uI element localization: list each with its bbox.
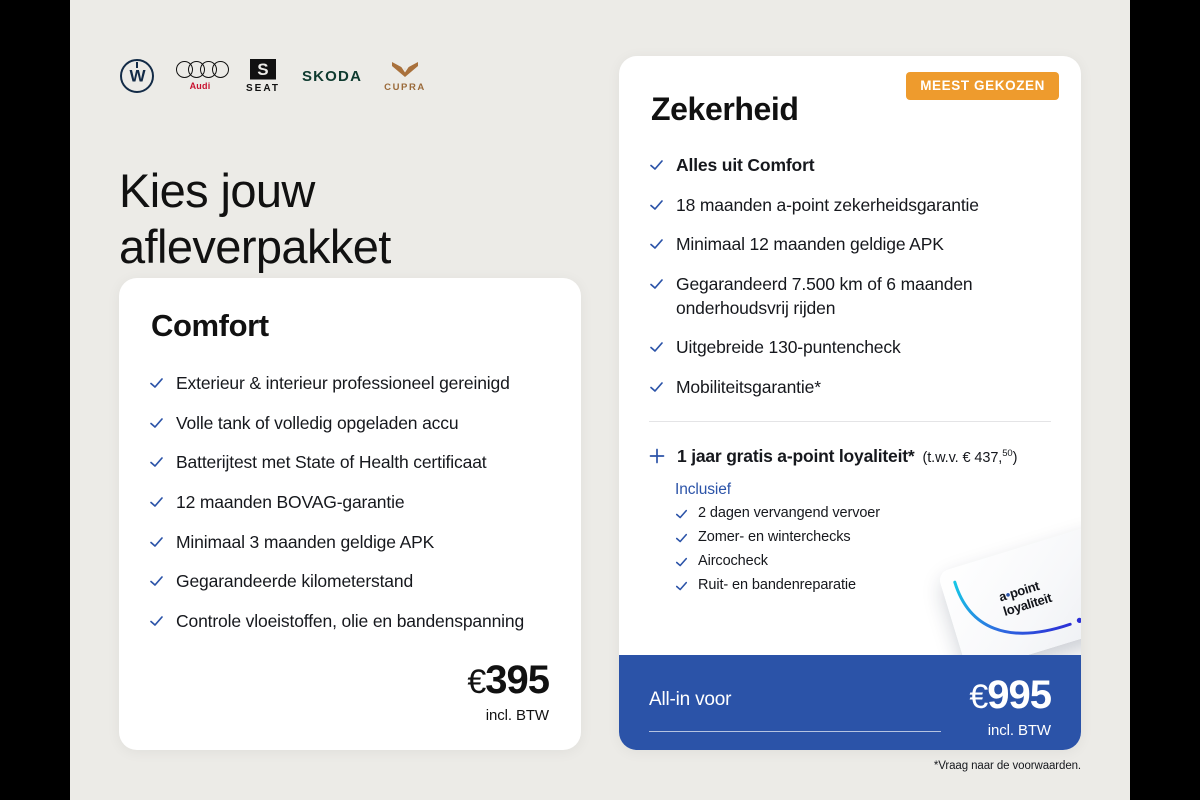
list-item: Minimaal 3 maanden geldige APK [149, 531, 551, 555]
zekerheid-price-bar: All-in voor €995 incl. BTW [619, 655, 1081, 750]
list-item: 2 dagen vervangend vervoer [675, 505, 1051, 521]
check-icon [149, 535, 164, 550]
list-item-label: Ruit- en bandenreparatie [698, 577, 856, 593]
list-item-label: 18 maanden a-point zekerheidsgarantie [676, 194, 979, 218]
list-item-label: Aircocheck [698, 553, 768, 569]
zekerheid-feature-list: Alles uit Comfort 18 maanden a-point zek… [619, 128, 1081, 399]
package-card-zekerheid[interactable]: MEEST GEKOZEN Zekerheid Alles uit Comfor… [619, 56, 1081, 750]
list-item-label: Volle tank of volledig opgeladen accu [176, 412, 458, 436]
list-item-label: Uitgebreide 130-puntencheck [676, 336, 901, 360]
page-title: Kies jouw afleverpakket [119, 163, 549, 274]
status-badge: MEEST GEKOZEN [906, 72, 1059, 100]
plus-icon [649, 448, 665, 464]
check-icon [649, 237, 664, 252]
list-item-label: Minimaal 12 maanden geldige APK [676, 233, 944, 257]
vw-logo-icon [120, 59, 154, 93]
check-icon [675, 556, 688, 569]
currency-symbol: € [969, 678, 987, 716]
package-card-comfort[interactable]: Comfort Exterieur & interieur profession… [119, 278, 581, 750]
brand-logo-cupra: CUPRA [384, 60, 426, 93]
list-item: Gegarandeerde kilometerstand [149, 570, 551, 594]
bonus-value: (t.w.v. € 437,50) [923, 450, 1018, 466]
audi-rings-icon [176, 61, 224, 78]
list-item-label: Controle vloeistoffen, olie en bandenspa… [176, 610, 524, 634]
footnote: *Vraag naar de voorwaarden. [934, 760, 1081, 772]
list-item: Exterieur & interieur professioneel gere… [149, 372, 551, 396]
list-item-label: Gegarandeerde kilometerstand [176, 570, 413, 594]
comfort-title: Comfort [119, 278, 581, 344]
list-item-label: Mobiliteitsgarantie* [676, 376, 821, 400]
list-item: Batterijtest met State of Health certifi… [149, 451, 551, 475]
comfort-price-note: incl. BTW [467, 707, 549, 724]
list-item-label: 2 dagen vervangend vervoer [698, 505, 880, 521]
price-rule [649, 731, 941, 732]
price-amount: 395 [485, 658, 549, 702]
included-label: Inclusief [619, 467, 1081, 499]
list-item: Uitgebreide 130-puntencheck [649, 336, 1057, 360]
audi-wordmark: Audi [190, 81, 211, 91]
seat-logo-icon: S [250, 59, 276, 80]
list-item-label: 12 maanden BOVAG-garantie [176, 491, 404, 515]
check-icon [649, 340, 664, 355]
check-icon [675, 580, 688, 593]
list-item-label: Gegarandeerd 7.500 km of 6 maanden onder… [676, 273, 1057, 320]
check-icon [675, 532, 688, 545]
allin-label: All-in voor [649, 689, 731, 711]
cupra-logo-icon [390, 60, 420, 79]
page-canvas: Audi S SEAT SKODA CUPRA Kies jouw a [70, 0, 1130, 800]
list-item: Mobiliteitsgarantie* [649, 376, 1057, 400]
check-icon [149, 416, 164, 431]
seat-wordmark: SEAT [246, 83, 280, 94]
list-item: Controle vloeistoffen, olie en bandenspa… [149, 610, 551, 634]
list-item-label: Batterijtest met State of Health certifi… [176, 451, 487, 475]
brand-logo-skoda: SKODA [302, 68, 362, 85]
brand-logo-strip: Audi S SEAT SKODA CUPRA [120, 55, 426, 97]
screenshot-stage: Audi S SEAT SKODA CUPRA Kies jouw a [0, 0, 1200, 800]
skoda-wordmark: SKODA [302, 68, 362, 85]
brand-logo-volkswagen [120, 59, 154, 93]
check-icon [649, 198, 664, 213]
bonus-row: 1 jaar gratis a-point loyaliteit*(t.w.v.… [619, 422, 1081, 467]
list-item: Volle tank of volledig opgeladen accu [149, 412, 551, 436]
zekerheid-price-block: €995 incl. BTW [969, 675, 1051, 739]
comfort-price: €395 [467, 660, 549, 700]
cupra-wordmark: CUPRA [384, 82, 426, 93]
check-icon [649, 380, 664, 395]
check-icon [149, 495, 164, 510]
list-item: Zomer- en winterchecks [675, 529, 1051, 545]
list-item: Gegarandeerd 7.500 km of 6 maanden onder… [649, 273, 1057, 320]
list-item: 18 maanden a-point zekerheidsgarantie [649, 194, 1057, 218]
bonus-value-suffix: ) [1013, 450, 1018, 466]
price-amount: 995 [987, 673, 1051, 717]
list-item-label: Exterieur & interieur professioneel gere… [176, 372, 510, 396]
zekerheid-price: €995 [969, 675, 1051, 715]
comfort-feature-list: Exterieur & interieur professioneel gere… [119, 344, 581, 633]
bonus-title: 1 jaar gratis a-point loyaliteit* [677, 446, 915, 466]
bonus-value-prefix: (t.w.v. € 437, [923, 450, 1003, 466]
list-item: 12 maanden BOVAG-garantie [149, 491, 551, 515]
check-icon [149, 614, 164, 629]
currency-symbol: € [467, 663, 485, 701]
list-item-label: Zomer- en winterchecks [698, 529, 851, 545]
zekerheid-price-note: incl. BTW [969, 722, 1051, 739]
check-icon [649, 277, 664, 292]
check-icon [649, 158, 664, 173]
check-icon [149, 574, 164, 589]
check-icon [149, 376, 164, 391]
bonus-value-sup: 50 [1002, 449, 1012, 460]
comfort-price-block: €395 incl. BTW [467, 660, 549, 724]
list-item: Minimaal 12 maanden geldige APK [649, 233, 1057, 257]
check-icon [149, 455, 164, 470]
check-icon [675, 508, 688, 521]
brand-logo-seat: S SEAT [246, 59, 280, 94]
brand-logo-audi: Audi [176, 61, 224, 91]
list-item-label: Minimaal 3 maanden geldige APK [176, 531, 434, 555]
list-item-label: Alles uit Comfort [676, 154, 814, 178]
list-item: Alles uit Comfort [649, 154, 1057, 178]
